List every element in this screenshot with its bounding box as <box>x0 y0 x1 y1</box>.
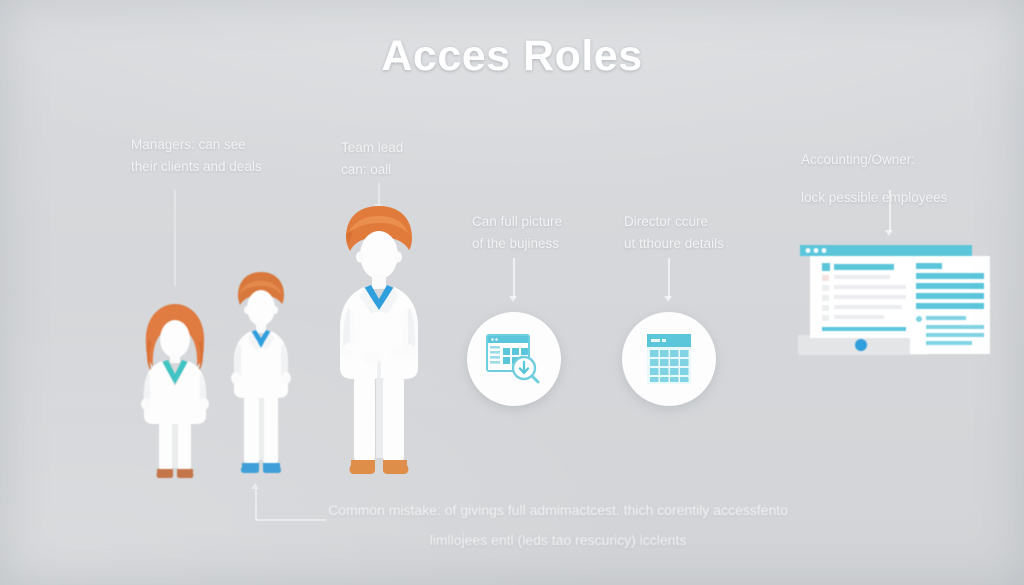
note-team-lead: Team lead can: oall <box>341 137 445 181</box>
female-employee-illustration <box>126 300 224 480</box>
note-accounting-owner: Accounting/Owner: lock pessible employee… <box>801 141 991 217</box>
window-search-icon <box>485 331 543 387</box>
note-full-picture-line1: Can full picture <box>472 211 596 233</box>
dashboard-window[interactable] <box>798 243 990 359</box>
connector-common-horizontal <box>256 519 326 521</box>
connector-director <box>668 258 670 298</box>
note-team-lead-line2: can: oall <box>341 159 445 181</box>
team-lead-illustration <box>322 200 438 482</box>
male-employee-illustration <box>220 268 302 480</box>
dashboard-window-illustration <box>798 243 990 359</box>
note-managers-line2: their clients and deals <box>131 156 311 178</box>
note-accounting-owner-line1: Accounting/Owner: <box>801 141 991 179</box>
note-accounting-owner-line2: lock pessible employees <box>801 179 991 217</box>
note-managers-line1: Managers: can see <box>131 134 311 156</box>
icon-badge-search-report[interactable] <box>467 312 561 406</box>
figure-male-employee <box>220 268 302 480</box>
figure-team-lead <box>322 200 438 482</box>
connector-director-arrow <box>664 296 672 302</box>
note-full-picture-line2: of the bujiness <box>472 233 596 255</box>
note-common-mistake: Common mistake: of givings full admimact… <box>328 495 788 555</box>
note-common-mistake-line1: Common mistake: of givings full admimact… <box>328 502 709 518</box>
figure-female-employee <box>126 300 224 480</box>
connector-common-vertical <box>255 489 257 520</box>
note-director-line2: ut tthoure details <box>624 233 756 255</box>
note-team-lead-line1: Team lead <box>341 137 445 159</box>
note-director: Director ccure ut tthoure details <box>624 211 756 255</box>
note-full-picture: Can full picture of the bujiness <box>472 211 596 255</box>
connector-full-picture <box>513 258 515 298</box>
infographic-canvas: Acces Roles <box>0 0 1024 585</box>
connector-full-picture-arrow <box>509 296 517 302</box>
page-title: Acces Roles <box>0 30 1024 82</box>
icon-badge-calculator[interactable] <box>622 312 716 406</box>
note-director-line1: Director ccure <box>624 211 756 233</box>
connector-managers <box>174 190 176 286</box>
calculator-icon <box>645 332 693 386</box>
connector-owner-arrow <box>885 230 893 236</box>
note-managers: Managers: can see their clients and deal… <box>131 134 311 178</box>
connector-common-arrow <box>251 483 259 489</box>
